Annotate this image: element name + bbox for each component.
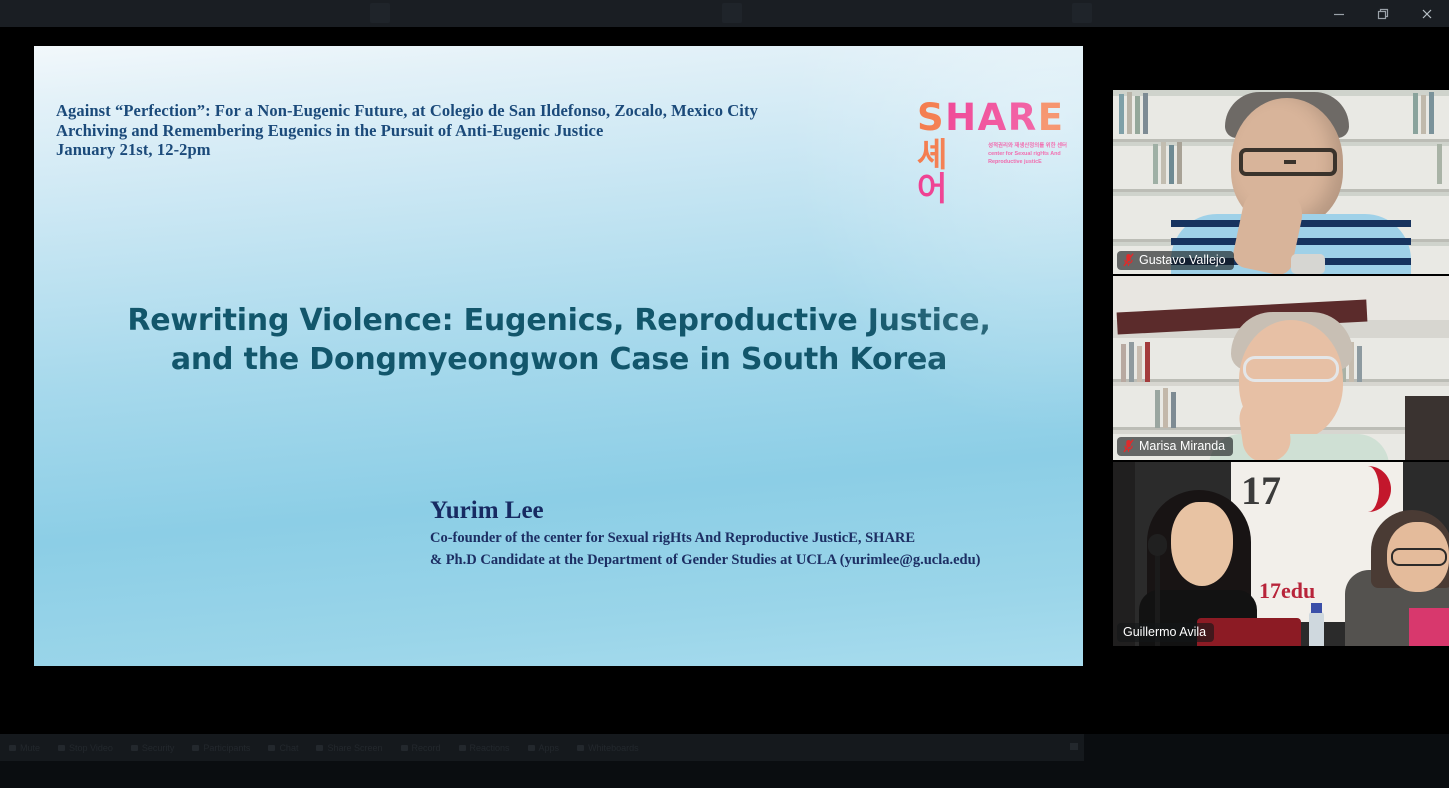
- meeting-toolbar-controls: Mute Stop Video Security Participants Ch…: [0, 734, 1084, 761]
- toolbar-label: Whiteboards: [588, 743, 639, 753]
- toolbar-participants-button[interactable]: Participants: [183, 743, 259, 753]
- toolbar-chat-button[interactable]: Chat: [259, 743, 307, 753]
- participant-name-badge: Gustavo Vallejo: [1117, 251, 1234, 270]
- video-feed: 17 17edu: [1113, 462, 1449, 646]
- window-controls: [1317, 0, 1449, 27]
- logo-letter-s: S: [917, 100, 945, 136]
- logo-korean: 셰어: [917, 138, 979, 206]
- toolbar-whiteboards-button[interactable]: Whiteboards: [568, 743, 648, 753]
- logo-letter-a: A: [978, 100, 1008, 136]
- share-logo-sub: 셰어 성적권리와 재생산정의를 위한 센터 center for Sexual …: [917, 138, 1067, 206]
- apps-icon: [528, 745, 535, 751]
- toolbar-stop-video-button[interactable]: Stop Video: [49, 743, 122, 753]
- share-screen-icon: [316, 745, 323, 751]
- video-feed: [1113, 276, 1449, 460]
- share-logo-wordmark: S H A R E: [917, 100, 1067, 136]
- share-logo: S H A R E 셰어 성적권리와 재생산정의를 위한 센터 center f…: [917, 100, 1067, 184]
- author-affiliation-1: Co-founder of the center for Sexual rigH…: [430, 529, 981, 548]
- record-icon: [401, 745, 408, 751]
- whiteboard-icon: [577, 745, 584, 751]
- people-icon: [192, 745, 199, 751]
- author-affiliation-2: & Ph.D Candidate at the Department of Ge…: [430, 551, 981, 570]
- author-name: Yurim Lee: [430, 496, 981, 526]
- toolbar-label: Chat: [279, 743, 298, 753]
- presentation-slide: Against “Perfection”: For a Non-Eugenic …: [34, 46, 1083, 666]
- logo-korean-2: 어: [917, 169, 948, 208]
- toolbar-label: Security: [142, 743, 175, 753]
- slide-header-line-3: January 21st, 12-2pm: [56, 140, 758, 160]
- toolbar-share-screen-button[interactable]: Share Screen: [307, 743, 391, 753]
- slide-title: Rewriting Violence: Eugenics, Reproducti…: [94, 301, 1024, 379]
- chat-icon: [268, 745, 275, 751]
- banner-number: 17: [1241, 467, 1281, 514]
- toolbar-apps-button[interactable]: Apps: [519, 743, 569, 753]
- slide-header-line-2: Archiving and Remembering Eugenics in th…: [56, 121, 758, 141]
- window-titlebar: [0, 0, 1449, 27]
- toolbar-label: Record: [412, 743, 441, 753]
- shared-screen-area[interactable]: Against “Perfection”: For a Non-Eugenic …: [34, 46, 1083, 727]
- meeting-stage: Against “Perfection”: For a Non-Eugenic …: [0, 27, 1449, 734]
- banner-text: 17edu: [1259, 578, 1315, 604]
- camera-icon: [58, 745, 65, 751]
- zoom-meeting-window: Against “Perfection”: For a Non-Eugenic …: [0, 0, 1449, 788]
- titlebar-ghost-2: [722, 3, 742, 23]
- microphone-icon: [9, 745, 16, 751]
- toolbar-label: Reactions: [470, 743, 510, 753]
- toolbar-reactions-button[interactable]: Reactions: [450, 743, 519, 753]
- toolbar-label: Stop Video: [69, 743, 113, 753]
- toolbar-label: Mute: [20, 743, 40, 753]
- toolbar-label: Share Screen: [327, 743, 382, 753]
- logo-tagline-en-1: center for Sexual rigHts And: [988, 150, 1067, 158]
- logo-tagline: 성적권리와 재생산정의를 위한 센터 center for Sexual rig…: [988, 142, 1067, 166]
- toolbar-record-button[interactable]: Record: [392, 743, 450, 753]
- titlebar-ghost-1: [370, 3, 390, 23]
- logo-letter-r: R: [1008, 100, 1038, 136]
- video-tile-gustavo-vallejo[interactable]: Gustavo Vallejo: [1113, 90, 1449, 274]
- toolbar-security-button[interactable]: Security: [122, 743, 184, 753]
- meeting-toolbar: Mute Stop Video Security Participants Ch…: [0, 734, 1449, 788]
- participant-video-strip: Gustavo Vallejo: [1113, 90, 1449, 648]
- slide-header: Against “Perfection”: For a Non-Eugenic …: [56, 101, 758, 160]
- participant-name: Marisa Miranda: [1139, 439, 1225, 453]
- slide-author-block: Yurim Lee Co-founder of the center for S…: [430, 496, 981, 569]
- slide-header-line-1: Against “Perfection”: For a Non-Eugenic …: [56, 101, 758, 121]
- shield-icon: [131, 745, 138, 751]
- video-feed: [1113, 90, 1449, 274]
- toolbar-end-button[interactable]: [1070, 743, 1078, 750]
- participant-name: Gustavo Vallejo: [1139, 253, 1226, 267]
- minimize-icon[interactable]: [1317, 0, 1361, 27]
- video-tile-guillermo-avila[interactable]: 17 17edu Guillermo Avila: [1113, 462, 1449, 646]
- logo-tagline-ko: 성적권리와 재생산정의를 위한 센터: [988, 142, 1067, 150]
- logo-tagline-en-2: Reproductive justicE: [988, 158, 1067, 166]
- restore-icon[interactable]: [1361, 0, 1405, 27]
- participant-name: Guillermo Avila: [1123, 625, 1206, 639]
- mic-muted-icon: [1123, 253, 1134, 267]
- toolbar-mute-button[interactable]: Mute: [0, 743, 49, 753]
- close-icon[interactable]: [1405, 0, 1449, 27]
- toolbar-label: Apps: [539, 743, 560, 753]
- reactions-icon: [459, 745, 466, 751]
- mic-muted-icon: [1123, 439, 1134, 453]
- video-tile-marisa-miranda[interactable]: Marisa Miranda: [1113, 276, 1449, 460]
- participant-name-badge: Marisa Miranda: [1117, 437, 1233, 456]
- participant-name-badge: Guillermo Avila: [1117, 623, 1214, 642]
- titlebar-ghost-3: [1072, 3, 1092, 23]
- logo-letter-e: E: [1038, 100, 1065, 136]
- toolbar-label: Participants: [203, 743, 250, 753]
- logo-letter-h: H: [945, 100, 977, 136]
